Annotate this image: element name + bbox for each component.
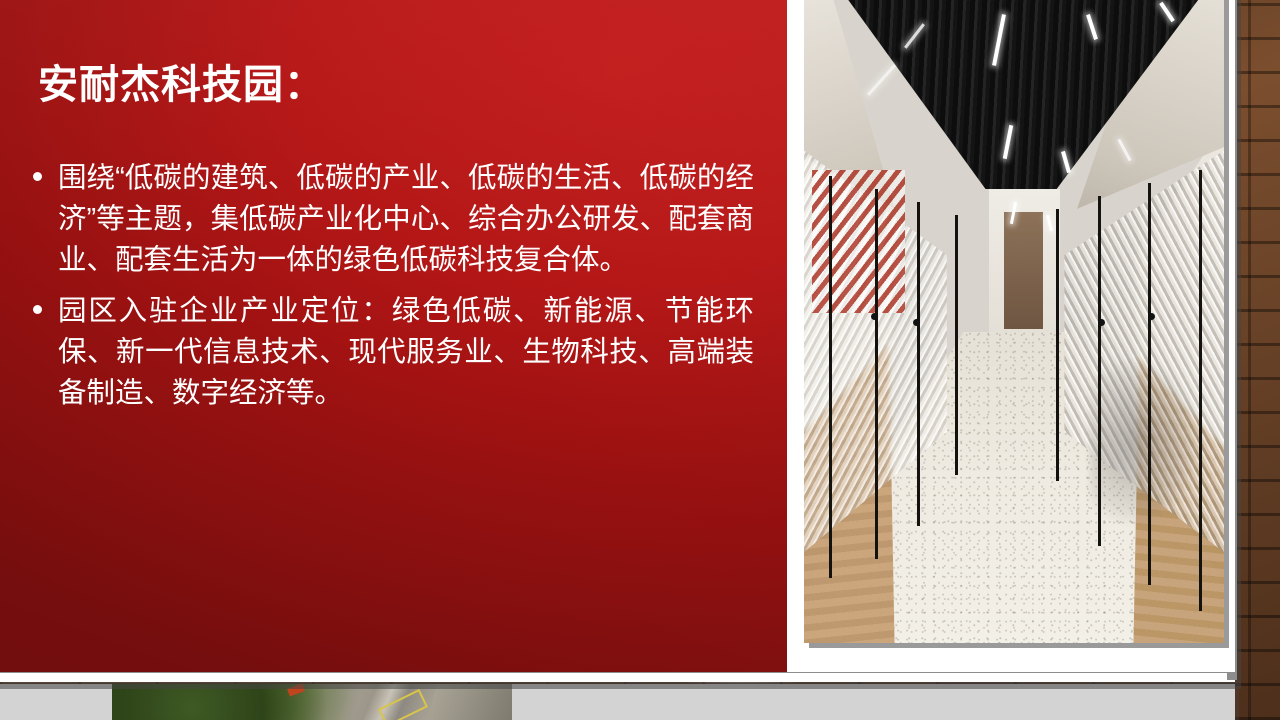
glass-mullion [829, 176, 832, 578]
bullet-dot-icon [33, 305, 42, 314]
red-content-panel: 安耐杰科技园： 围绕“低碳的建筑、低碳的产业、低碳的生活、低碳的经济”等主题，集… [0, 0, 793, 672]
corridor-far-door [1004, 212, 1044, 329]
photo-frame [787, 0, 1235, 672]
door-handle-icon [871, 313, 878, 320]
glass-mullion [1148, 183, 1151, 585]
aerial-roof [287, 684, 305, 697]
page-title: 安耐杰科技园： [38, 62, 738, 108]
blurred-office-chairs [1090, 358, 1199, 526]
glass-mullion [955, 215, 958, 474]
list-item: 园区入驻企业产业定位：绿色低碳、新能源、节能环保、新一代信息技术、现代服务业、生… [30, 291, 754, 414]
office-corridor-photo[interactable] [804, 0, 1224, 643]
door-handle-icon [1098, 319, 1105, 326]
glass-mullion [875, 189, 878, 558]
slide-stage: 安耐杰科技园： 围绕“低碳的建筑、低碳的产业、低碳的生活、低碳的经济”等主题，集… [0, 0, 1280, 720]
next-slide-preview[interactable] [0, 684, 1235, 720]
glass-mullion [1199, 170, 1202, 611]
glass-mullion [1056, 209, 1059, 481]
bullet-dot-icon [33, 172, 42, 181]
aerial-site-photo [112, 684, 512, 720]
door-handle-icon [1148, 313, 1155, 320]
glass-mullion [917, 202, 920, 526]
slide-card[interactable]: 安耐杰科技园： 围绕“低碳的建筑、低碳的产业、低碳的生活、低碳的经济”等主题，集… [0, 0, 1235, 682]
bullet-text: 园区入驻企业产业定位：绿色低碳、新能源、节能环保、新一代信息技术、现代服务业、生… [58, 295, 754, 409]
ceiling-light-strip [867, 64, 896, 96]
bullet-text: 围绕“低碳的建筑、低碳的产业、低碳的生活、低碳的经济”等主题，集低碳产业化中心、… [58, 162, 754, 276]
glass-mullion [1098, 196, 1101, 546]
bullet-list: 围绕“低碳的建筑、低碳的产业、低碳的生活、低碳的经济”等主题，集低碳产业化中心、… [30, 158, 754, 424]
glass-artwork-red [812, 170, 904, 313]
corridor-illustration [804, 0, 1224, 643]
list-item: 围绕“低碳的建筑、低碳的产业、低碳的生活、低碳的经济”等主题，集低碳产业化中心、… [30, 158, 754, 281]
